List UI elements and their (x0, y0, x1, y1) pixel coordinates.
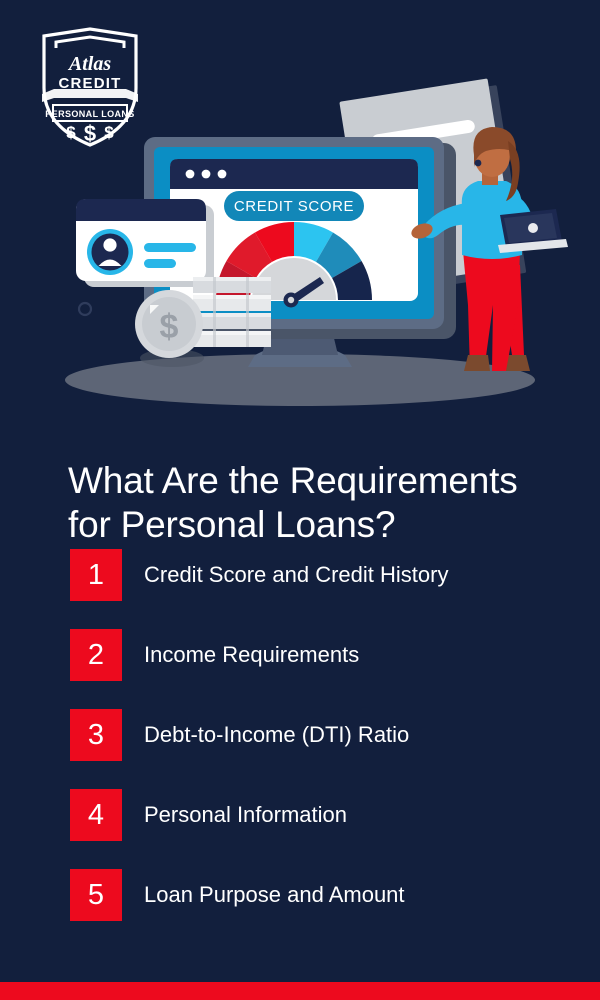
dollar-coin-symbol: $ (160, 308, 179, 346)
list-item: 3 Debt-to-Income (DTI) Ratio (70, 709, 570, 761)
list-item-number: 4 (70, 789, 122, 841)
avatar (87, 229, 133, 275)
pants (463, 251, 520, 371)
list-item-label: Credit Score and Credit History (144, 562, 448, 588)
list-item: 5 Loan Purpose and Amount (70, 869, 570, 921)
browser-dot-3 (218, 170, 227, 179)
shoe-left (464, 355, 490, 371)
list-item-label: Debt-to-Income (DTI) Ratio (144, 722, 409, 748)
dollar-coin: $ (135, 290, 204, 367)
list-item-label: Income Requirements (144, 642, 359, 668)
list-item-number: 5 (70, 869, 122, 921)
list-item-label: Loan Purpose and Amount (144, 882, 405, 908)
profile-id-card (76, 199, 214, 287)
requirements-list: 1 Credit Score and Credit History 2 Inco… (70, 549, 570, 949)
id-card-line-1 (144, 243, 196, 252)
list-item-number: 1 (70, 549, 122, 601)
id-card-line-2 (144, 259, 176, 268)
credit-score-illustration: CREDIT SCORE (0, 55, 600, 415)
page-title: What Are the Requirements for Personal L… (68, 459, 568, 547)
laptop (498, 209, 568, 253)
infographic-poster: Atlas CREDIT PERSONAL LOANS $ $ $ (0, 0, 600, 1000)
headline-line-2: for Personal Loans? (68, 503, 568, 547)
browser-dot-1 (186, 170, 195, 179)
headline-line-1: What Are the Requirements (68, 459, 568, 503)
bottom-accent-bar (0, 982, 600, 1000)
list-item: 2 Income Requirements (70, 629, 570, 681)
list-item-label: Personal Information (144, 802, 347, 828)
list-item-number: 2 (70, 629, 122, 681)
credit-score-badge-label: CREDIT SCORE (234, 198, 354, 215)
list-item: 1 Credit Score and Credit History (70, 549, 570, 601)
earring (475, 160, 482, 167)
decor-circle-icon (79, 303, 91, 315)
id-card-header (76, 199, 206, 221)
browser-dot-2 (202, 170, 211, 179)
list-item: 4 Personal Information (70, 789, 570, 841)
list-item-number: 3 (70, 709, 122, 761)
